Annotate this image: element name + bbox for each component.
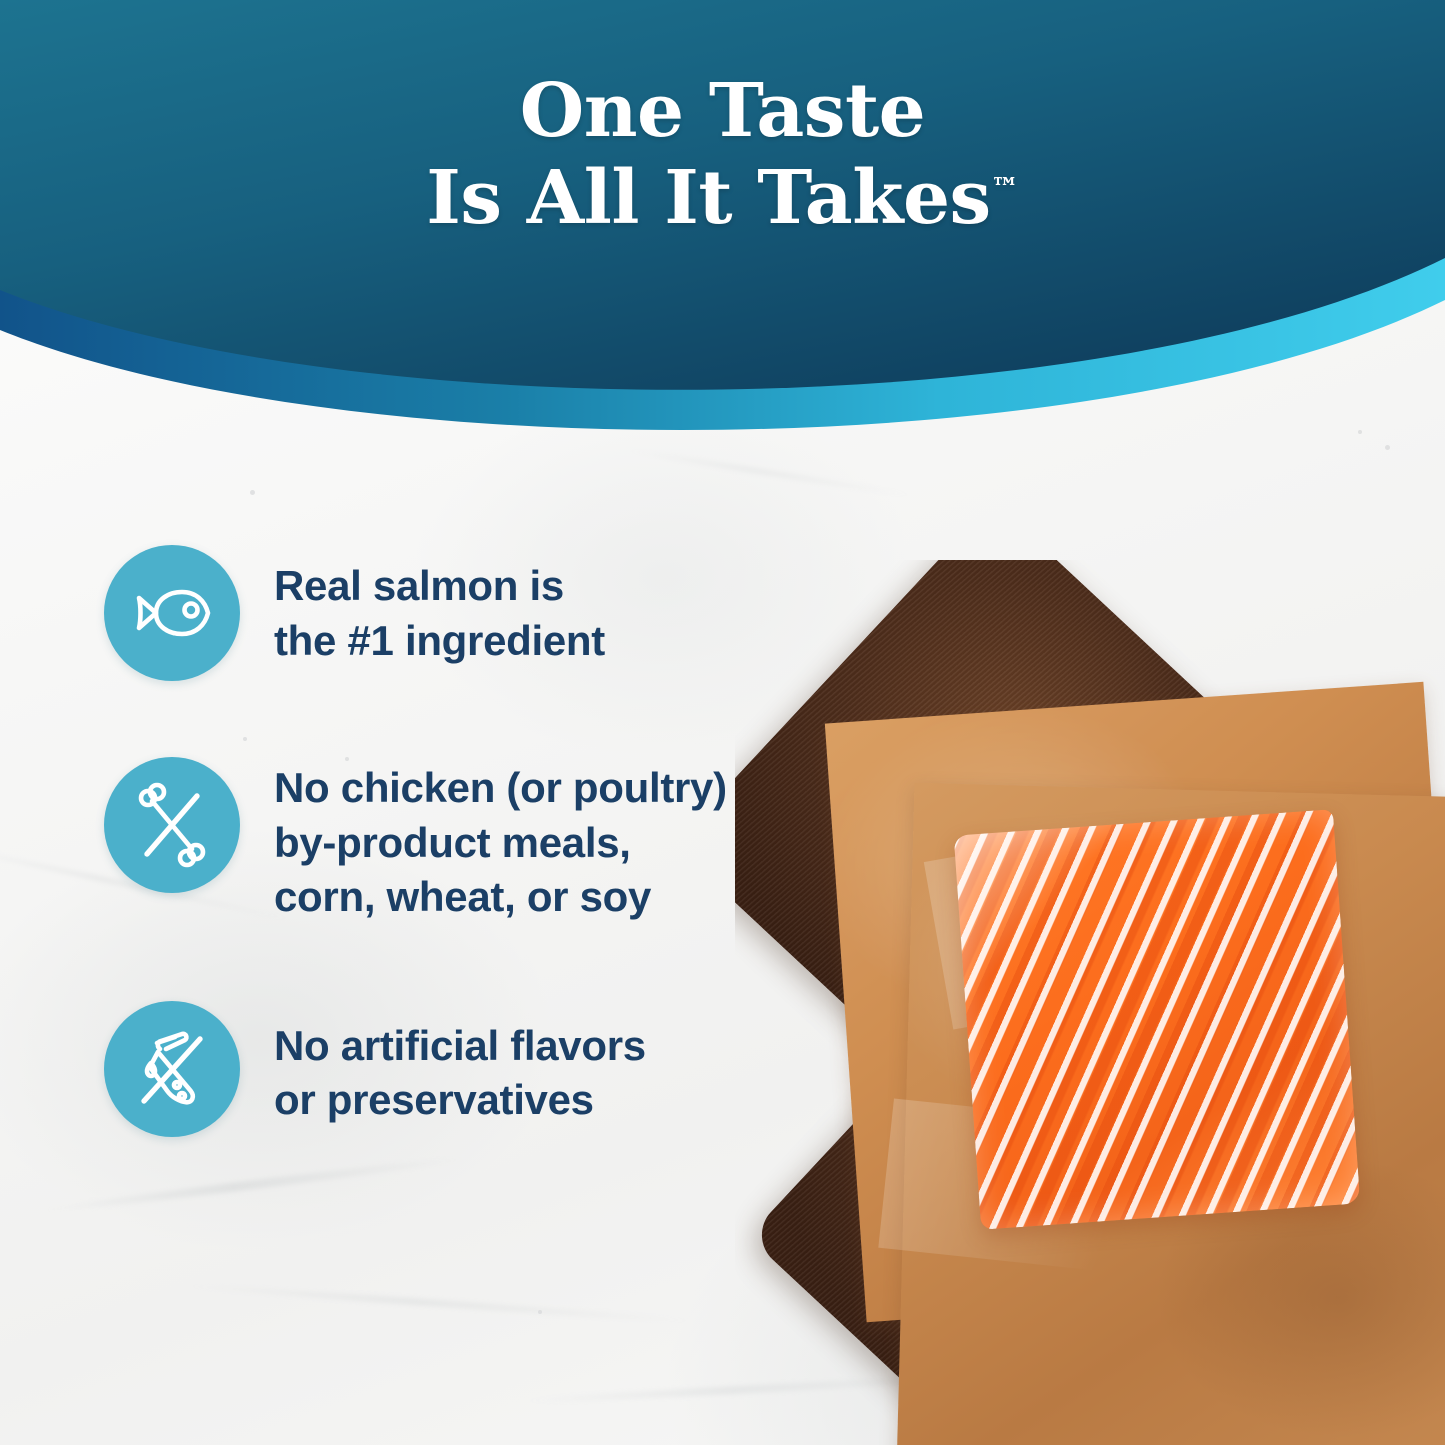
benefits-list: Real salmon is the #1 ingredient No chic… [104, 545, 824, 1137]
no-bone-icon-badge [104, 757, 240, 893]
marble-vein [41, 1154, 469, 1215]
page-title: One Taste Is All It Takes™ [0, 68, 1445, 241]
benefit-label: No artificial flavors or preservatives [274, 1001, 646, 1128]
trademark-symbol: ™ [991, 171, 1019, 204]
marble-vein [180, 1282, 699, 1325]
marble-speck [538, 1310, 542, 1314]
benefit-item-no-chicken: No chicken (or poultry) by-product meals… [104, 757, 824, 925]
promo-image-canvas: One Taste Is All It Takes™ Real salmon i… [0, 0, 1445, 1445]
benefit-label: Real salmon is the #1 ingredient [274, 545, 605, 668]
salmon-food-photo [735, 560, 1445, 1445]
headline-text: One Taste Is All It Takes [426, 68, 990, 241]
benefit-item-no-artificial: No artificial flavors or preservatives [104, 1001, 824, 1137]
no-test-tube-icon-badge [104, 1001, 240, 1137]
fish-icon [126, 567, 218, 659]
salmon-fillet [954, 809, 1361, 1230]
header-banner: One Taste Is All It Takes™ [0, 0, 1445, 450]
salmon-edge-highlight [954, 809, 1361, 1230]
marble-speck [250, 490, 255, 495]
benefit-label: No chicken (or poultry) by-product meals… [274, 757, 727, 925]
no-test-tube-icon [126, 1023, 218, 1115]
marble-vein [621, 447, 918, 500]
benefit-item-real-salmon: Real salmon is the #1 ingredient [104, 545, 824, 681]
no-bone-icon [126, 779, 218, 871]
fish-icon-badge [104, 545, 240, 681]
